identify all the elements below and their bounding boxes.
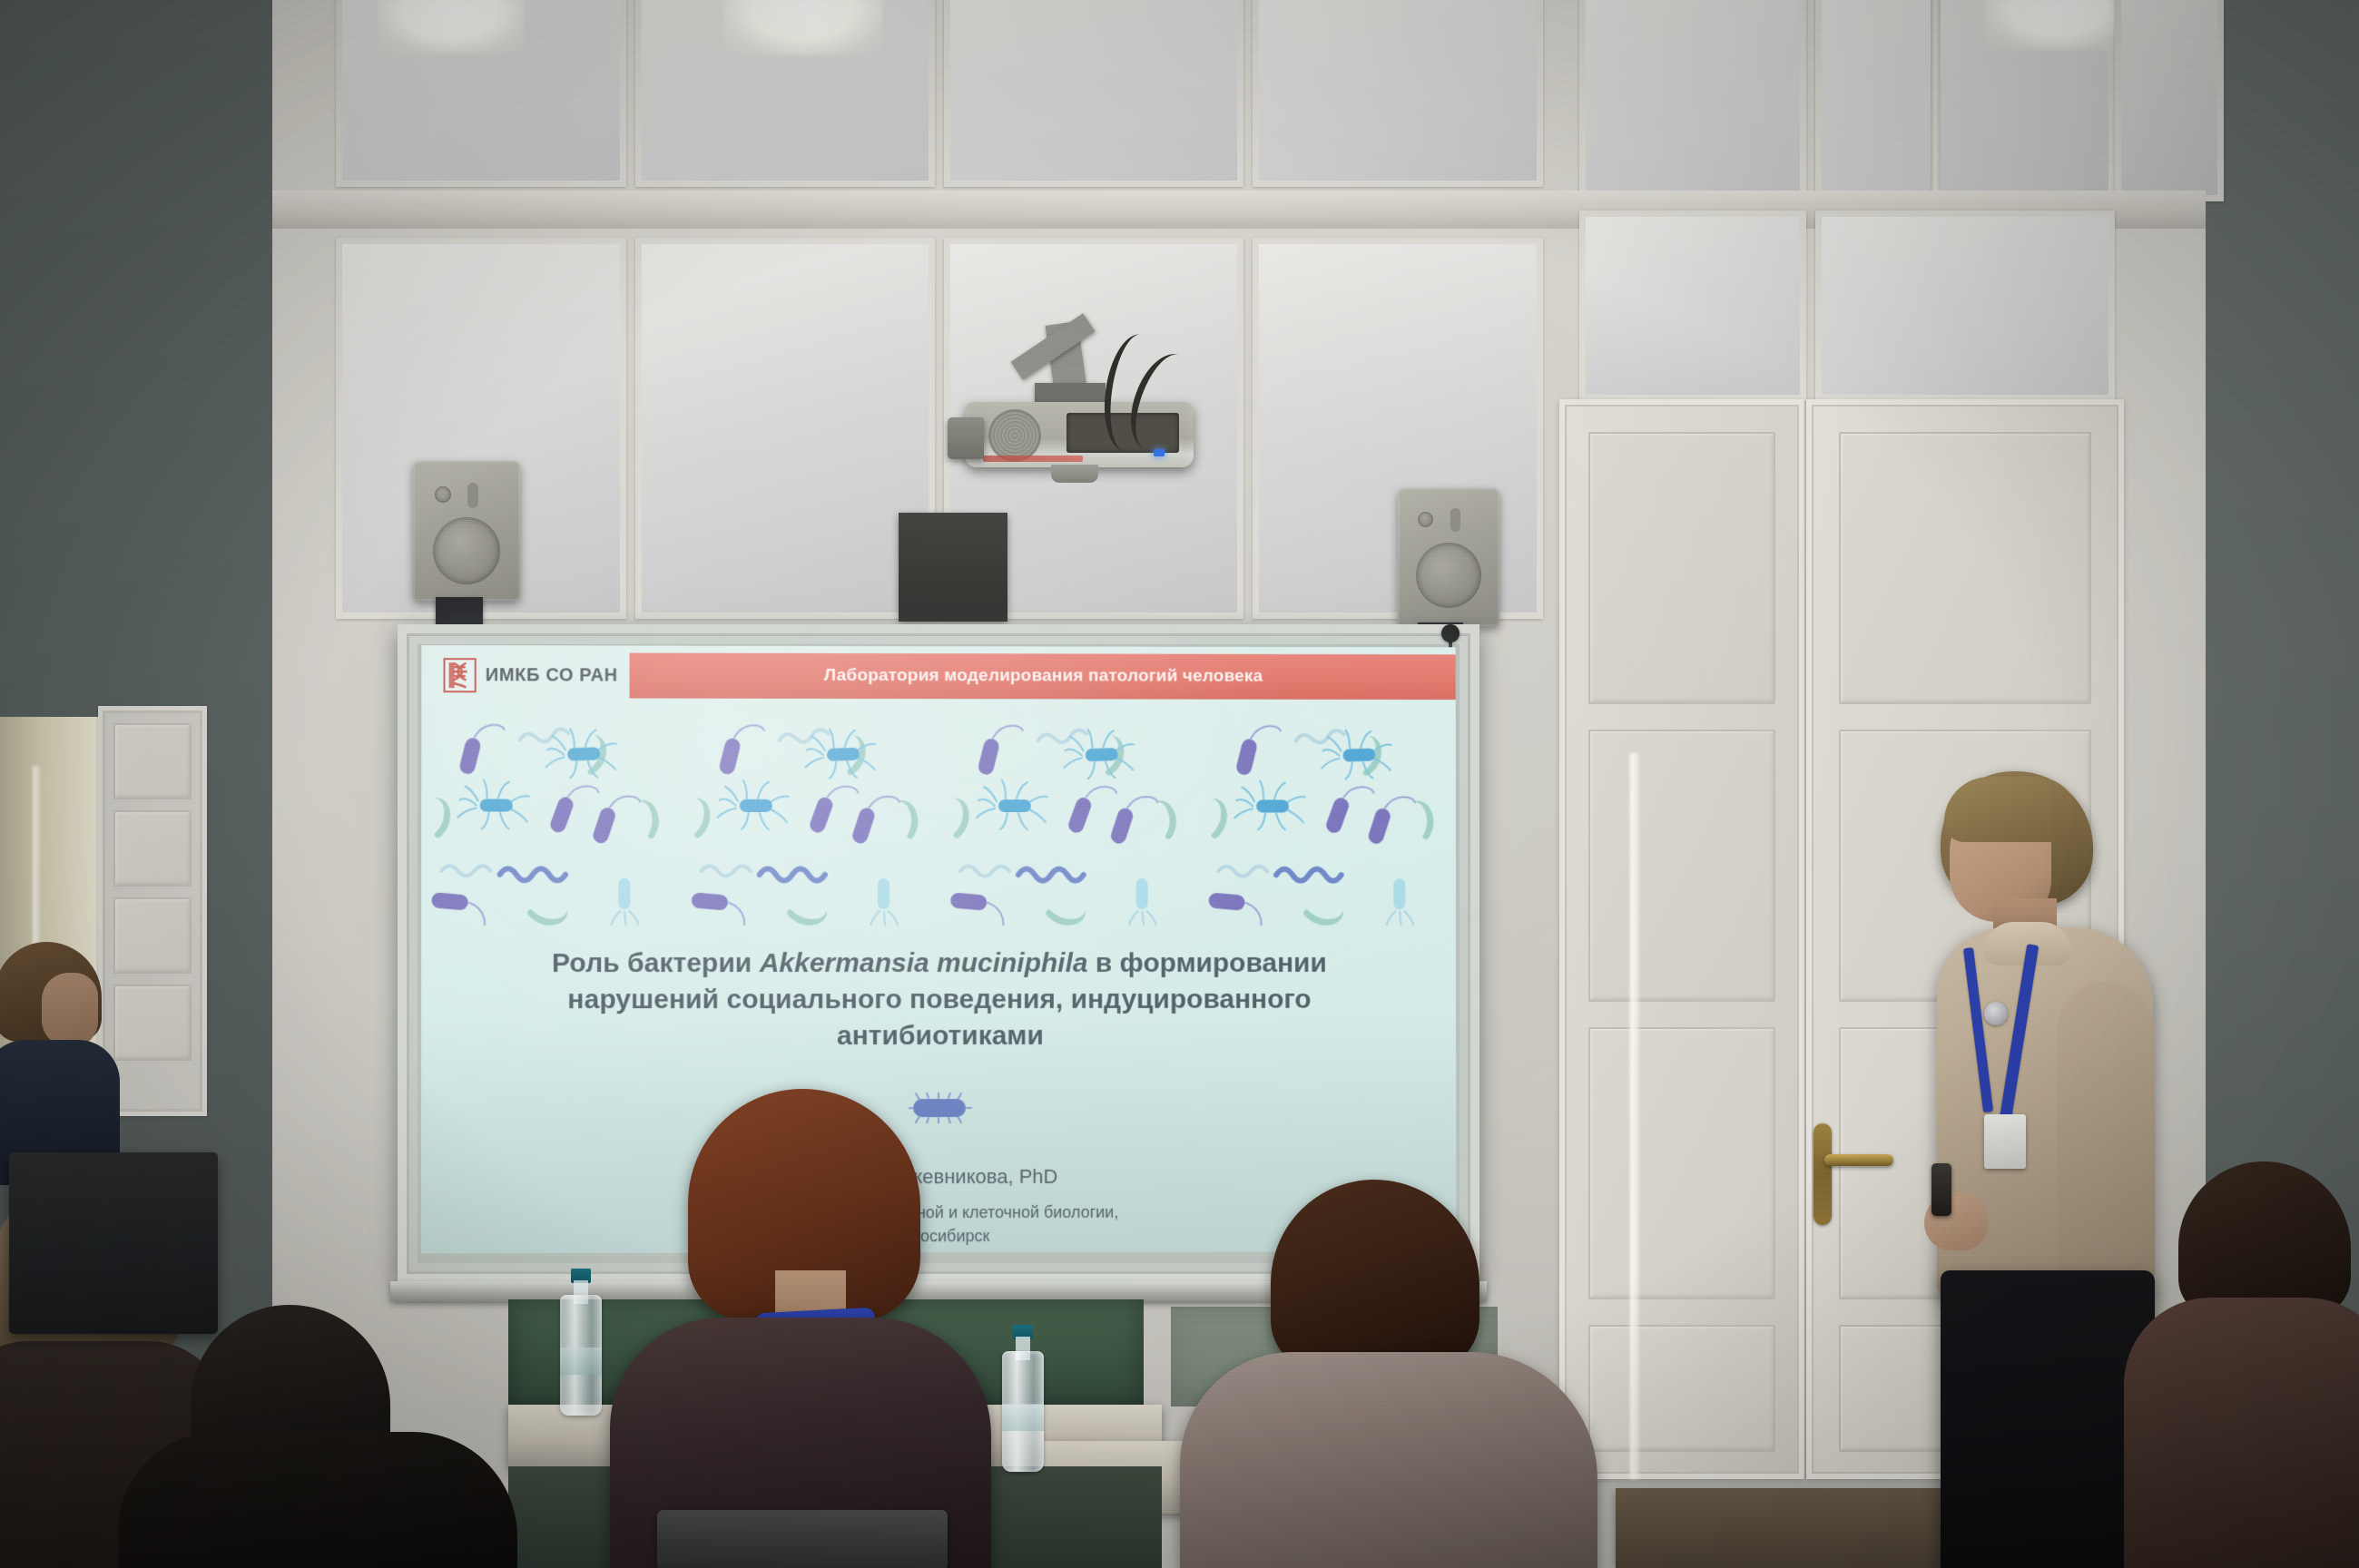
window-mullion <box>1931 0 1941 195</box>
door-panel <box>113 810 192 887</box>
projector-lens-icon <box>948 417 984 459</box>
presentation-remote-clicker[interactable] <box>1931 1163 1951 1216</box>
slide-header: Лаборатория моделирования патологий чело… <box>421 645 1455 707</box>
projector-vent-icon <box>988 409 1041 462</box>
bottle-label <box>1002 1404 1044 1430</box>
transom-window-1 <box>336 0 626 187</box>
window-glass <box>1586 0 1800 191</box>
audience-member-right <box>1200 1180 1581 1568</box>
door-panel <box>1588 730 1775 1002</box>
door-panel <box>1588 1027 1775 1299</box>
whiteboard-stylus[interactable] <box>1441 624 1460 642</box>
presenter-arm <box>2057 982 2155 1298</box>
audience-member-far-right <box>2142 1161 2359 1568</box>
left-wall-panel <box>98 706 207 1116</box>
audience-chair <box>657 1510 948 1568</box>
speaker-tweeter-icon <box>435 486 451 503</box>
door-panel <box>1839 432 2091 704</box>
door-panel <box>113 985 192 1061</box>
audience-hair <box>1271 1180 1479 1372</box>
transom-window-5 <box>1579 0 1806 198</box>
door-left-leaf[interactable] <box>1559 399 1804 1479</box>
speaker-port <box>1450 508 1460 532</box>
window-glass <box>1259 0 1537 181</box>
conference-room-photo: Лаборатория моделирования патологий чело… <box>0 0 2359 1568</box>
dna-helix-icon <box>444 658 477 692</box>
door-top-lite-left <box>1579 211 1806 401</box>
projector-mount-plate <box>1035 383 1106 403</box>
ceiling-light-reflection <box>1985 0 2130 50</box>
window-row2-2 <box>635 238 935 619</box>
door-light-gap <box>1630 753 1639 1479</box>
door-glass <box>1822 217 2108 395</box>
wall-speaker-right <box>1398 488 1499 626</box>
projector-brand-text <box>983 456 1083 462</box>
projector-indicator-led <box>1154 449 1165 456</box>
audience-hair <box>2178 1161 2351 1318</box>
window-glass <box>950 0 1237 181</box>
transom-window-3 <box>944 0 1243 187</box>
window-glass <box>642 244 929 612</box>
presenter-badge <box>1984 1114 2026 1169</box>
transom-window-4 <box>1253 0 1543 187</box>
door-panel <box>113 723 192 799</box>
water-bottle <box>560 1269 602 1416</box>
door-panel <box>1588 432 1775 704</box>
slide-header-band: Лаборатория моделирования патологий чело… <box>629 653 1455 701</box>
transom-window-7 <box>2115 0 2224 201</box>
wall-speaker-left <box>413 461 520 601</box>
bacteria-illustration-band <box>421 718 1456 926</box>
door-panel <box>113 897 192 974</box>
ceiling-light-reflection <box>723 0 882 55</box>
speaker-tweeter-icon <box>1418 512 1433 527</box>
speaker-port <box>467 483 478 508</box>
audience-member-center <box>610 1089 991 1568</box>
brass-door-handle-lever[interactable] <box>1824 1154 1893 1166</box>
speaker-woofer-icon <box>1416 543 1481 608</box>
audience-body <box>118 1432 517 1568</box>
bottle-label <box>560 1347 602 1374</box>
slide-title-part1: Роль бактерии <box>552 948 760 978</box>
presenter-skirt <box>1941 1270 2155 1568</box>
transom-window-2 <box>635 0 935 187</box>
window-glass <box>2121 0 2217 195</box>
door-glass <box>1586 217 1800 395</box>
audience-body <box>2124 1298 2359 1568</box>
projector-focus-knob <box>1051 465 1098 483</box>
institute-logo-label: ИМКБ СО РАН <box>486 665 618 686</box>
audience-body-tweed-jacket <box>1180 1352 1597 1568</box>
ceiling-light-reflection <box>378 0 524 54</box>
audience-member-foreground-dark <box>127 1305 508 1568</box>
slide-title: Роль бактерии Akkermansia muciniphila в … <box>476 946 1401 1054</box>
speaker-woofer-icon <box>433 517 500 584</box>
institute-logo: ИМКБ СО РАН <box>444 658 618 692</box>
door-top-lite-right <box>1815 211 2115 401</box>
av-equipment-cabinet <box>899 513 1007 622</box>
side-monitor <box>9 1152 218 1334</box>
door-panel <box>1588 1325 1775 1452</box>
audience-face <box>42 973 98 1047</box>
audience-member-left-edge <box>0 942 113 1178</box>
slide-title-species: Akkermansia muciniphila <box>760 948 1088 978</box>
water-bottle <box>1002 1325 1044 1472</box>
transom-window-6 <box>1815 0 2115 201</box>
lab-name-text: Лаборатория моделирования патологий чело… <box>824 666 1263 687</box>
presenter-necklace-pendant <box>1984 1002 2008 1025</box>
brass-door-handle[interactable] <box>1813 1123 1832 1225</box>
presenter-hair-fringe <box>1944 777 2080 842</box>
